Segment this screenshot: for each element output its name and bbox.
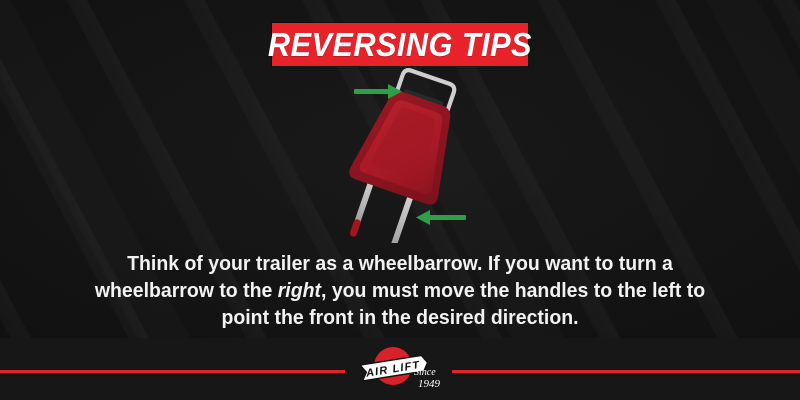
footer-rule-left (0, 370, 345, 373)
air-lift-logo: AIR LIFT Since 1949 (352, 345, 452, 395)
body-copy-emphasis: right (278, 279, 321, 302)
title-banner: REVERSING TIPS (272, 23, 528, 66)
page-title: REVERSING TIPS (268, 28, 532, 61)
wheelbarrow-illustration (318, 68, 488, 243)
handles-direction-arrow (416, 210, 466, 225)
infographic-card: REVERSING TIPS (0, 0, 800, 400)
footer-rule-right (452, 370, 800, 373)
body-copy: Think of your trailer as a wheelbarrow. … (79, 250, 721, 331)
logo-tagline-year: 1949 (418, 378, 441, 390)
logo-tagline-since: Since (414, 367, 436, 378)
left-grip (349, 218, 361, 237)
